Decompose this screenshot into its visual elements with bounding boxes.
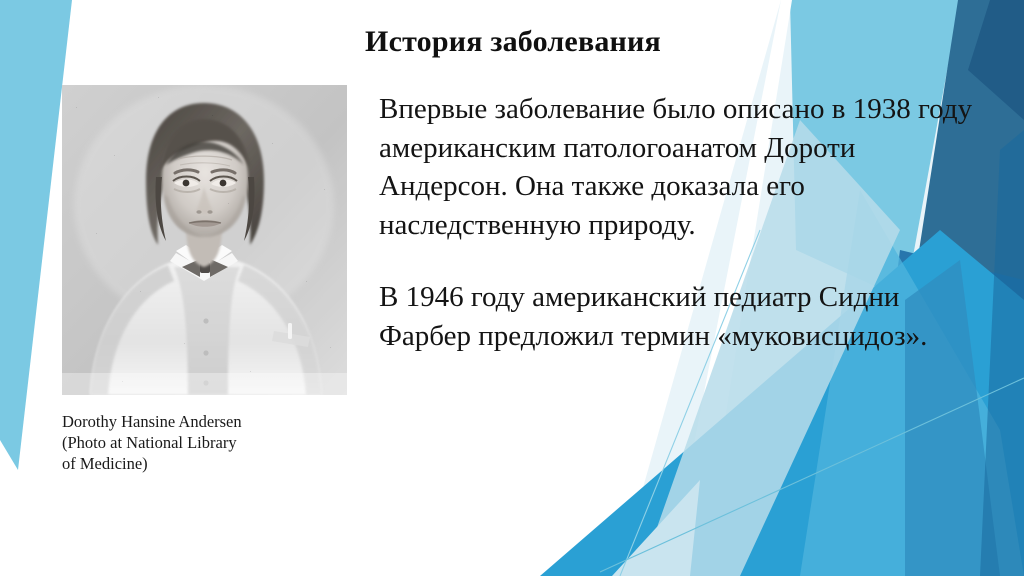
page-title: История заболевания xyxy=(175,25,851,58)
slide-body-text: Впервые заболевание было описано в 1938 … xyxy=(379,90,979,355)
photo-caption: Dorothy Hansine Andersen (Photo at Natio… xyxy=(62,411,332,474)
bottom-pale-triangle-shape xyxy=(612,480,700,576)
portrait-photo xyxy=(62,85,347,395)
presentation-slide: Dorothy Hansine Andersen (Photo at Natio… xyxy=(0,0,1024,576)
body-paragraph-2: В 1946 году американский педиатр Сидни Ф… xyxy=(379,278,979,355)
portrait-photo-image xyxy=(62,85,347,395)
hairline-diagonal-accent-long xyxy=(600,378,1024,572)
body-paragraph-1: Впервые заболевание было описано в 1938 … xyxy=(379,90,979,244)
far-right-deep-sliver-shape xyxy=(980,130,1024,576)
